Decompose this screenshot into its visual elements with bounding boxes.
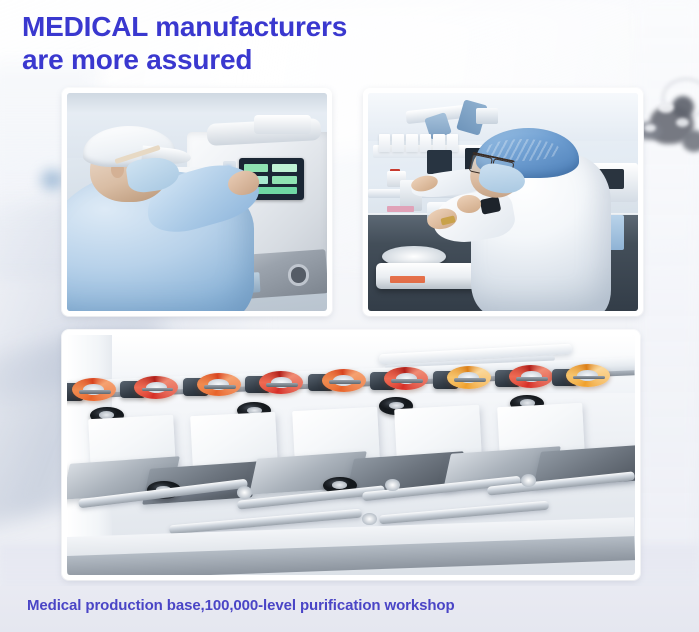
- photo-2-image: [368, 93, 638, 311]
- p1-plate-hole: [291, 267, 307, 282]
- p3-feed-reel: [124, 376, 183, 407]
- p3-feed-reel: [555, 364, 614, 395]
- caption-text: Medical production base,100,000-level pu…: [27, 596, 455, 616]
- photo-operator-at-packaging-machine[interactable]: [62, 88, 332, 316]
- p2-ceiling-duct: [476, 108, 498, 123]
- p3-feed-reel: [436, 366, 495, 397]
- headline-title: MEDICAL manufacturers are more assured: [22, 10, 582, 76]
- p3-roller-end-cap: [362, 513, 377, 525]
- photo-production-line-workshop[interactable]: [62, 330, 640, 580]
- p3-feed-reel: [499, 365, 558, 396]
- p2-balance-brand-mark: [390, 276, 425, 283]
- p2-technician-upper-hand: [457, 195, 481, 212]
- background-machinery-blob: [636, 96, 699, 158]
- p3-roller-end-cap: [237, 486, 252, 498]
- p1-machine-arm-end: [254, 115, 311, 135]
- p3-feed-reel: [311, 369, 370, 400]
- p2-pink-label: [387, 206, 414, 211]
- p1-ceiling: [67, 93, 327, 113]
- photo-3-image: [67, 335, 635, 575]
- promo-banner: MEDICAL manufacturers are more assured: [0, 0, 699, 632]
- p3-roller-end-cap: [521, 474, 536, 486]
- p2-monitor-left: [427, 150, 451, 174]
- p3-feed-reel: [67, 378, 120, 409]
- p3-feed-reel: [249, 371, 308, 402]
- p3-feed-reel: [374, 367, 433, 398]
- p3-feed-reel: [186, 373, 245, 404]
- photo-lab-technician-weighing[interactable]: [363, 88, 643, 316]
- photo-1-image: [67, 93, 327, 311]
